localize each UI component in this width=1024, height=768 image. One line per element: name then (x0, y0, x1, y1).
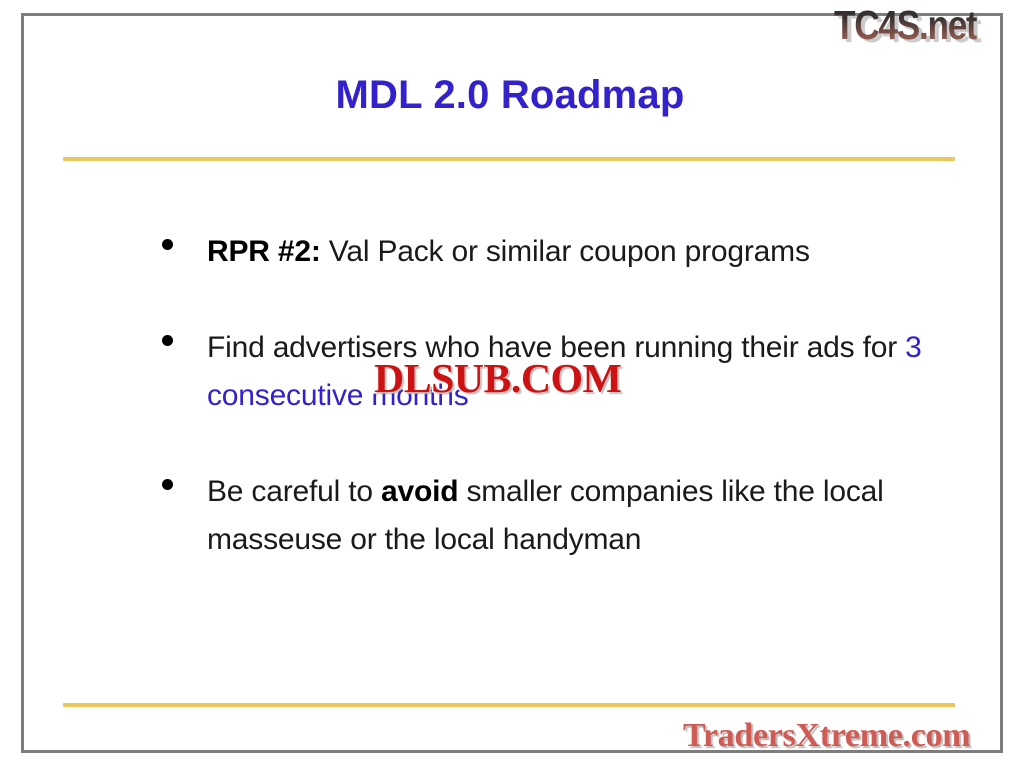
list-item-text-bold: RPR #2: (207, 235, 321, 268)
tradersxtreme-watermark: TradersXtreme.com (683, 717, 970, 755)
divider-rule-bottom (63, 703, 955, 707)
page-title: MDL 2.0 Roadmap (62, 72, 958, 118)
list-item-text: Be careful to avoid smaller companies li… (207, 468, 955, 564)
tc4s-watermark: TC4S.net (834, 2, 977, 48)
title-block: MDL 2.0 Roadmap (62, 72, 958, 118)
list-item-text-lead: Be careful to (207, 475, 381, 508)
bullet-dot-icon (162, 239, 173, 250)
bullet-dot-icon (162, 479, 173, 490)
divider-rule-top (63, 157, 955, 161)
list-item: Be careful to avoid smaller companies li… (155, 468, 955, 564)
slide-canvas: MDL 2.0 Roadmap RPR #2: Val Pack or simi… (0, 0, 1024, 768)
list-item-text-rest: Val Pack or similar coupon programs (321, 235, 810, 268)
list-item: RPR #2: Val Pack or similar coupon progr… (155, 228, 955, 276)
list-item-text: RPR #2: Val Pack or similar coupon progr… (207, 228, 955, 276)
dlsub-watermark: DLSUB.COM (374, 356, 622, 400)
list-item-text-bold: avoid (381, 475, 458, 508)
bullet-dot-icon (162, 335, 173, 346)
